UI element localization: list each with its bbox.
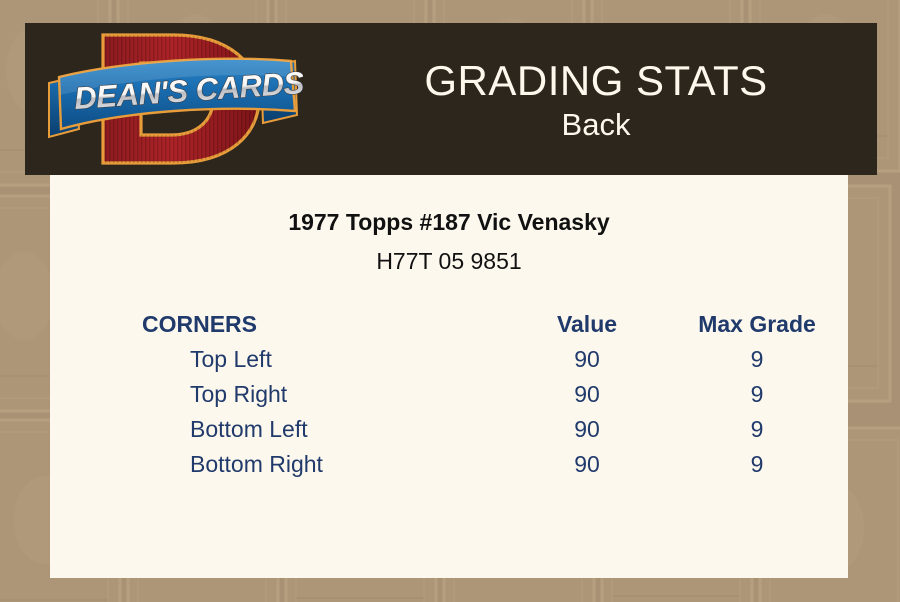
row-max-grade: 9 (672, 377, 842, 412)
logo-artwork: DEAN'S CARDS (45, 25, 303, 173)
row-label: Top Left (142, 342, 502, 377)
row-max-grade: 9 (672, 447, 842, 482)
table-row: Bottom Right 90 9 (142, 447, 842, 482)
table-row: Top Right 90 9 (142, 377, 842, 412)
card-title: 1977 Topps #187 Vic Venasky (50, 208, 848, 236)
table-body: Top Left 90 9 Top Right 90 9 Bottom Left… (142, 342, 842, 482)
column-header-max-grade: Max Grade (672, 307, 842, 342)
header-bar: DEAN'S CARDS GRADING STATS Back (25, 23, 877, 175)
grading-stats-table: CORNERS Value Max Grade Top Left 90 9 To… (142, 307, 842, 482)
page-title: GRADING STATS (424, 57, 767, 105)
column-header-value: Value (502, 307, 672, 342)
row-value: 90 (502, 447, 672, 482)
card-serial-number: H77T 05 9851 (50, 247, 848, 275)
table-row: Top Left 90 9 (142, 342, 842, 377)
row-max-grade: 9 (672, 342, 842, 377)
deans-cards-logo[interactable]: DEAN'S CARDS (45, 25, 303, 173)
row-value: 90 (502, 412, 672, 447)
content-panel: 1977 Topps #187 Vic Venasky H77T 05 9851… (50, 175, 848, 578)
table-row: Bottom Left 90 9 (142, 412, 842, 447)
page-root: DEAN'S CARDS GRADING STATS Back 1977 Top… (0, 0, 900, 602)
row-value: 90 (502, 377, 672, 412)
row-label: Bottom Left (142, 412, 502, 447)
column-header-corners: CORNERS (142, 307, 502, 342)
row-label: Top Right (142, 377, 502, 412)
row-label: Bottom Right (142, 447, 502, 482)
header-title-block: GRADING STATS Back (315, 23, 877, 175)
table-header: CORNERS Value Max Grade (142, 307, 842, 342)
table-header-row: CORNERS Value Max Grade (142, 307, 842, 342)
row-value: 90 (502, 342, 672, 377)
page-subtitle: Back (562, 105, 631, 145)
row-max-grade: 9 (672, 412, 842, 447)
